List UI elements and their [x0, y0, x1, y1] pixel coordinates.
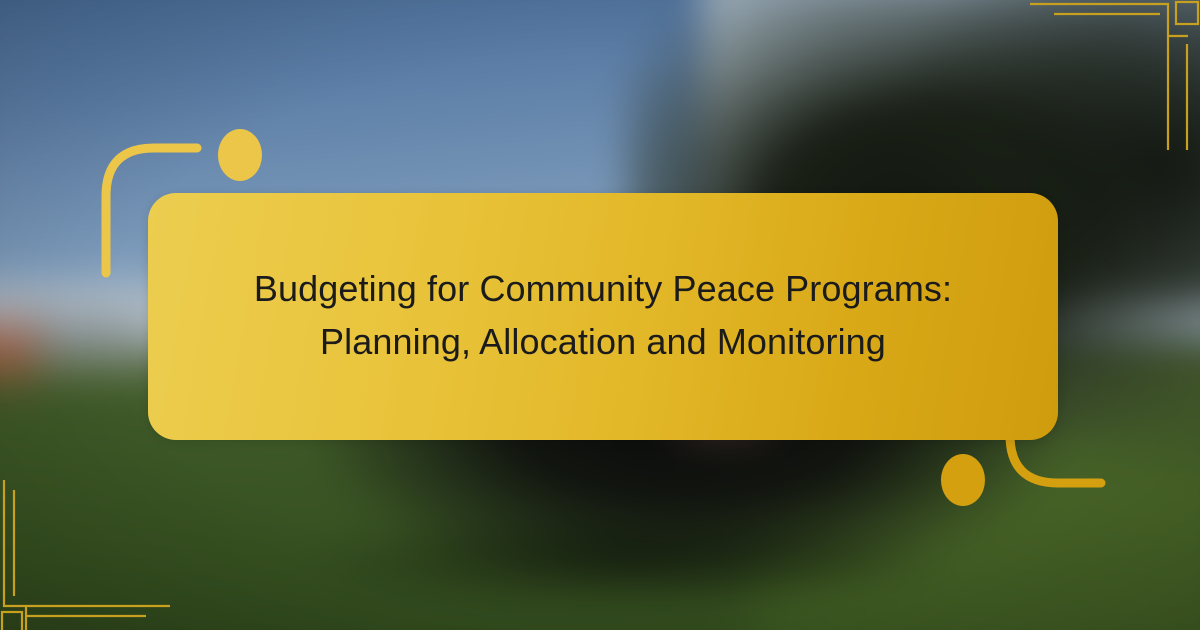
bottom-right-dot-decoration [941, 454, 985, 506]
share-card-canvas: Budgeting for Community Peace Programs: … [0, 0, 1200, 630]
top-left-dot-decoration [218, 129, 262, 181]
page-title-line-2: Planning, Allocation and Monitoring [320, 321, 886, 362]
page-title: Budgeting for Community Peace Programs: … [208, 263, 998, 369]
bottom-left-circuit-decoration [0, 480, 170, 630]
page-title-line-1: Budgeting for Community Peace Programs: [254, 268, 952, 309]
title-card: Budgeting for Community Peace Programs: … [148, 193, 1058, 440]
top-right-circuit-decoration [1030, 0, 1200, 150]
